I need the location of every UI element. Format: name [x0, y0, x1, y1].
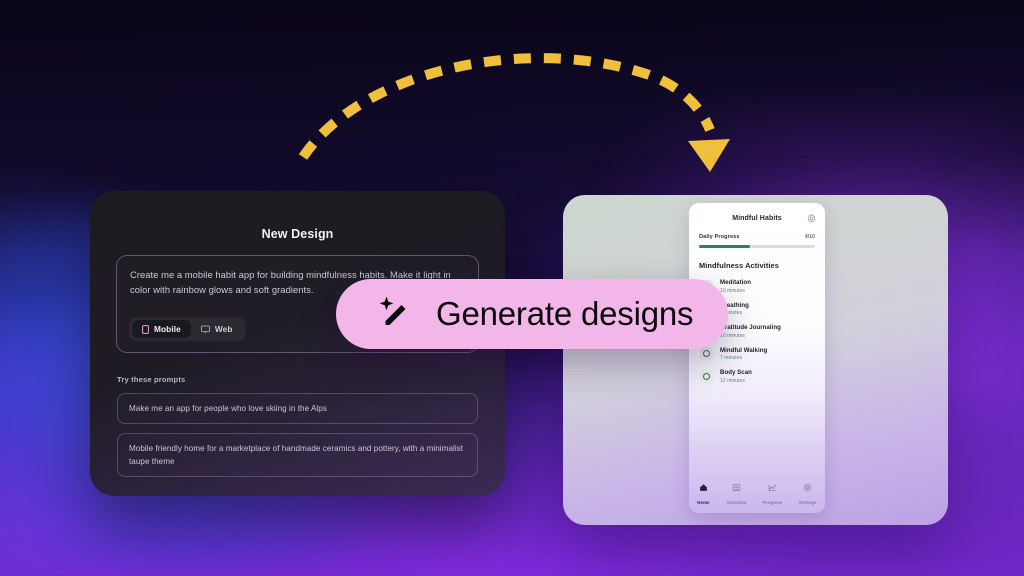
home-icon: [699, 479, 708, 497]
section-title-activities: Mindfulness Activities: [699, 261, 815, 270]
tab-mobile[interactable]: Mobile: [132, 320, 191, 338]
design-preview-panel: Mindful Habits Daily Progress 4/10 Mindf…: [563, 195, 948, 525]
activity-checkbox[interactable]: [700, 347, 713, 360]
nav-item-home[interactable]: Home: [697, 479, 709, 505]
generate-designs-label: Generate designs: [436, 295, 693, 333]
activity-duration: 12 minutes: [720, 378, 752, 384]
activity-name: Gratitude Journaling: [720, 324, 781, 331]
gear-icon[interactable]: [807, 214, 816, 223]
chart-icon: [768, 479, 777, 497]
phone-mockup: Mindful Habits Daily Progress 4/10 Mindf…: [689, 203, 825, 513]
activity-checkbox[interactable]: [700, 370, 713, 383]
magic-wand-icon: [374, 294, 414, 334]
activity-item[interactable]: Body Scan12 minutes: [695, 365, 819, 388]
daily-progress-count: 4/10: [805, 234, 815, 240]
nav-item-label: Progress: [763, 500, 782, 505]
nav-item-label: Settings: [799, 500, 817, 505]
try-prompts-label: Try these prompts: [117, 375, 505, 384]
tab-web[interactable]: Web: [191, 320, 243, 338]
app-header: Mindful Habits: [689, 203, 825, 222]
progress-bar-fill: [699, 245, 750, 248]
activity-duration: 7 minutes: [720, 355, 767, 361]
nav-item-label: Activities: [726, 500, 746, 505]
nav-item-settings[interactable]: Settings: [799, 479, 817, 505]
gear-icon: [803, 479, 812, 497]
progress-bar-track: [699, 245, 815, 248]
activity-name: Meditation: [720, 279, 751, 286]
list-icon: [732, 479, 741, 497]
app-title: Mindful Habits: [732, 215, 782, 222]
suggested-prompt-1[interactable]: Make me an app for people who love skiin…: [117, 393, 478, 424]
tab-web-label: Web: [215, 324, 233, 334]
activity-item[interactable]: Mindful Walking7 minutes: [695, 343, 819, 366]
nav-item-activities[interactable]: Activities: [726, 479, 746, 505]
activity-name: Mindful Walking: [720, 347, 767, 354]
tab-mobile-label: Mobile: [154, 324, 181, 334]
page-title: New Design: [90, 227, 505, 241]
bottom-nav[interactable]: HomeActivitiesProgressSettings: [689, 479, 825, 505]
activity-duration: 10 minutes: [720, 333, 781, 339]
daily-progress-row: Daily Progress 4/10: [689, 222, 825, 240]
activity-duration: 10 minutes: [720, 288, 751, 294]
phone-icon: [142, 325, 149, 334]
platform-toggle-group[interactable]: Mobile Web: [129, 317, 246, 341]
nav-item-label: Home: [697, 500, 709, 505]
monitor-icon: [201, 325, 210, 334]
daily-progress-label: Daily Progress: [699, 234, 740, 240]
suggested-prompt-2[interactable]: Mobile friendly home for a marketplace o…: [117, 433, 478, 477]
activity-name: Body Scan: [720, 369, 752, 376]
generate-designs-button[interactable]: Generate designs: [336, 279, 728, 349]
nav-item-progress[interactable]: Progress: [763, 479, 782, 505]
